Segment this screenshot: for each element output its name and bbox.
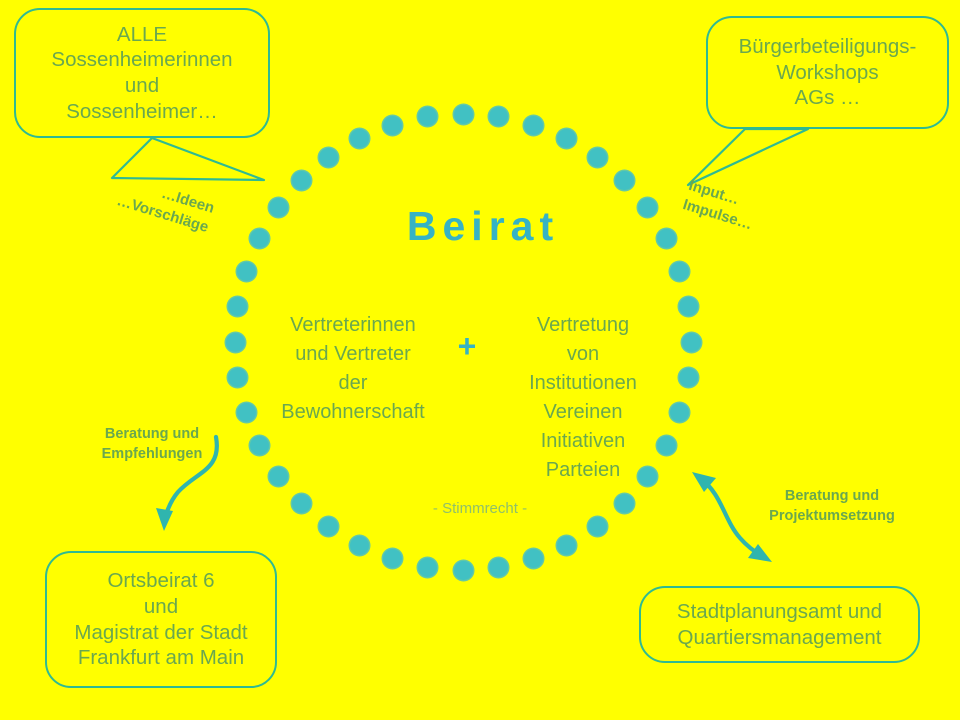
callout-ortsbeirat-magistrat[interactable]: Ortsbeirat 6undMagistrat der StadtFrankf… — [45, 551, 277, 688]
member-group-institutionen: VertretungvonInstitutionenVereinenInitia… — [492, 311, 674, 485]
label-beratung-projektumsetzung: Beratung undProjektumsetzung — [742, 487, 922, 526]
callout-stadtplanungsamt-quartiersmanagement[interactable]: Stadtplanungsamt undQuartiersmanagement — [639, 586, 920, 663]
member-group-bewohnerschaft: Vertreterinnenund VertreterderBewohnersc… — [262, 311, 444, 427]
callout-alle-sossenheimer[interactable]: ALLESossenheimerinnenundSossenheimer… — [14, 8, 270, 138]
callout-buergerbeteiligungs-workshops[interactable]: Bürgerbeteiligungs-WorkshopsAGs … — [706, 16, 949, 129]
callout-stadtplanung-text: Stadtplanungsamt undQuartiersmanagement — [641, 599, 918, 650]
callout-ortsbeirat-text: Ortsbeirat 6undMagistrat der StadtFrankf… — [47, 568, 275, 671]
plus-icon: + — [447, 330, 487, 362]
callout-workshops-text: Bürgerbeteiligungs-WorkshopsAGs … — [708, 34, 947, 111]
label-beratung-empfehlungen: Beratung undEmpfehlungen — [72, 425, 232, 464]
callout-alle-text: ALLESossenheimerinnenundSossenheimer… — [16, 22, 268, 125]
diagram-canvas: ALLESossenheimerinnenundSossenheimer… Bü… — [0, 0, 960, 720]
